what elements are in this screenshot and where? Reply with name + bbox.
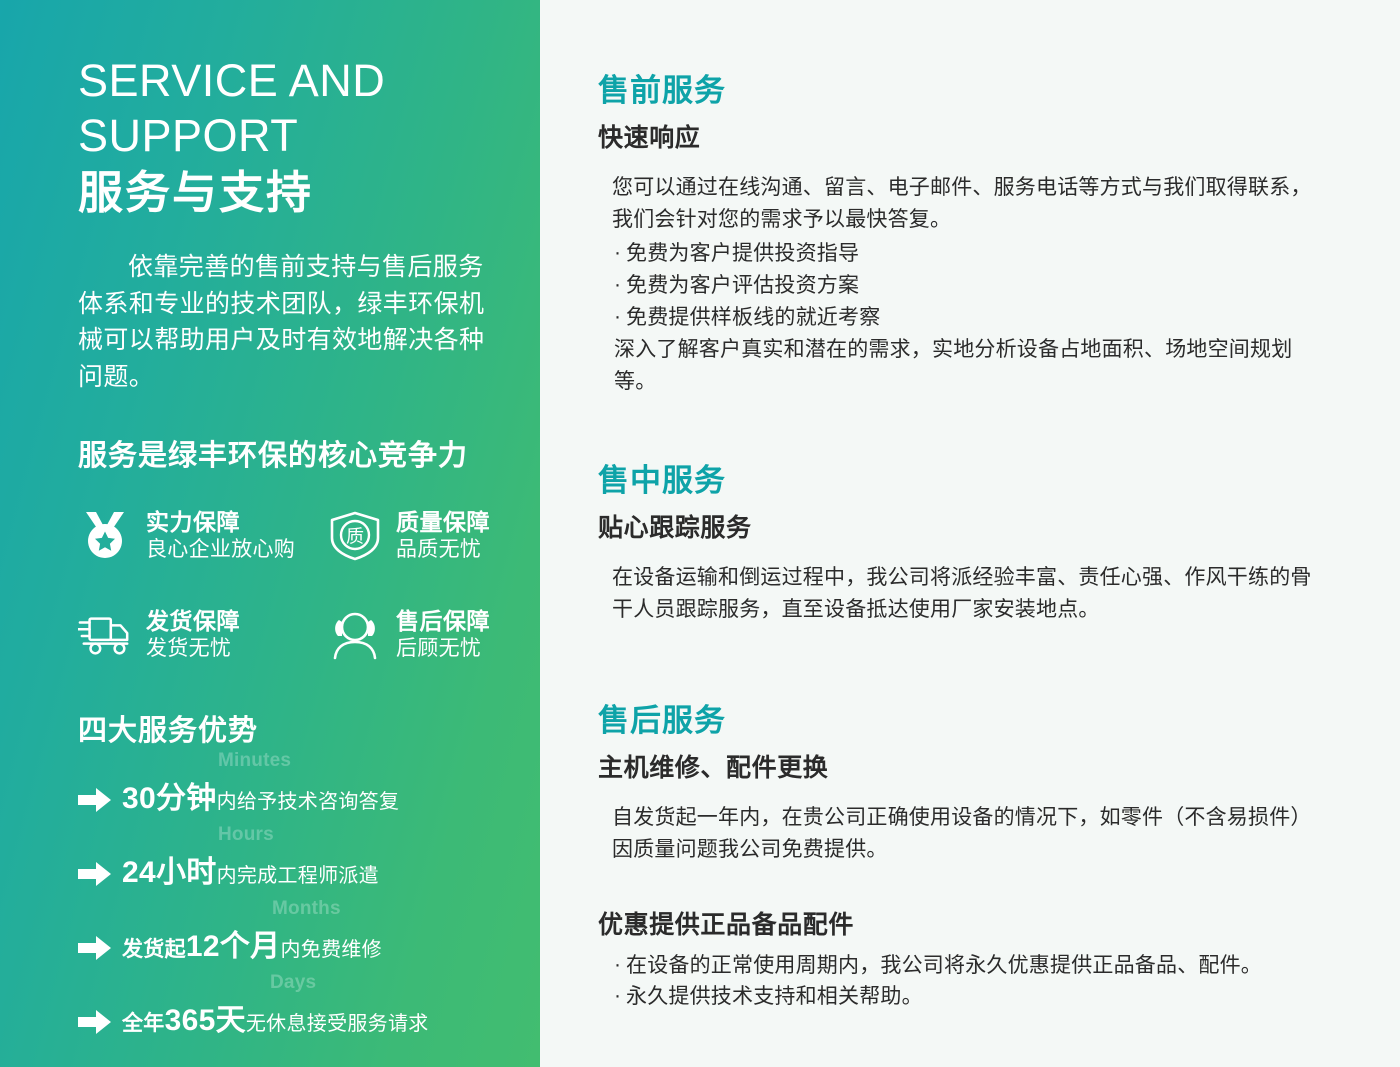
advantage-suffix: 无休息接受服务请求 xyxy=(246,1007,429,1036)
advantage-body: Hours 24小时 内完成工程师派遣 xyxy=(122,847,379,891)
core-competence-heading: 服务是绿丰环保的核心竞争力 xyxy=(78,432,500,474)
feature-sub: 良心企业放心购 xyxy=(146,538,295,561)
shield-quality-icon: 质 xyxy=(328,510,382,562)
feature-text: 发货保障 发货无忧 xyxy=(146,607,240,662)
intro-paragraph: 依靠完善的售前支持与售后服务体系和专业的技术团队，绿丰环保机械可以帮助用户及时有… xyxy=(78,249,508,396)
section-paragraph: 自发货起一年内，在贵公司正确使用设备的情况下，如零件（不含易损件）因质量问题我公… xyxy=(598,802,1320,866)
advantage-body: Days 全年 365天 无休息接受服务请求 xyxy=(122,995,429,1039)
advantage-prefix: 发货起 xyxy=(122,933,186,963)
section-tail-text: 深入了解客户真实和潜在的需求，实地分析设备占地面积、场地空间规划等。 xyxy=(598,334,1320,398)
section-bullets: 免费为客户提供投资指导 免费为客户评估投资方案 免费提供样板线的就近考察 xyxy=(598,238,1320,334)
advantage-item: Months 发货起 12个月 内免费维修 xyxy=(78,913,500,965)
list-item: 在设备的正常使用周期内，我公司将永久优惠提供正品备品、配件。 xyxy=(614,950,1320,982)
service-support-page: SERVICE AND SUPPORT 服务与支持 依靠完善的售前支持与售后服务… xyxy=(0,0,1400,1067)
advantage-body: Minutes 30分钟 内给予技术咨询答复 xyxy=(122,773,399,817)
section-title: 售中服务 xyxy=(598,462,1320,499)
right-content-panel: 售前服务 快速响应 您可以通过在线沟通、留言、电子邮件、服务电话等方式与我们取得… xyxy=(540,0,1400,1067)
section-aftersales: 售后服务 主机维修、配件更换 自发货起一年内，在贵公司正确使用设备的情况下，如零… xyxy=(598,702,1320,1013)
section-spacer xyxy=(598,626,1320,702)
arrow-right-icon xyxy=(78,861,112,887)
advantage-suffix: 内给予技术咨询答复 xyxy=(217,785,400,814)
section-title: 售前服务 xyxy=(598,72,1320,109)
section-paragraph: 您可以通过在线沟通、留言、电子邮件、服务电话等方式与我们取得联系，我们会针对您的… xyxy=(598,172,1320,236)
truck-icon xyxy=(78,609,132,661)
list-item: 免费为客户提供投资指导 xyxy=(614,238,1320,270)
advantage-suffix: 内完成工程师派遣 xyxy=(217,859,379,888)
feature-sub: 后顾无忧 xyxy=(396,637,481,660)
arrow-right-icon xyxy=(78,1009,112,1035)
feature-text: 质量保障 品质无忧 xyxy=(396,508,490,563)
feature-title: 实力保障 xyxy=(146,509,240,535)
advantage-en-watermark: Hours xyxy=(218,824,274,846)
section-spacer xyxy=(598,866,1320,888)
feature-item-aftersales: 售后保障 后顾无忧 xyxy=(328,607,526,662)
section-bullets-2: 在设备的正常使用周期内，我公司将永久优惠提供正品备品、配件。 永久提供技术支持和… xyxy=(598,950,1320,1014)
feature-title: 售后保障 xyxy=(396,608,490,634)
advantage-en-watermark: Months xyxy=(272,898,341,920)
list-item: 免费为客户评估投资方案 xyxy=(614,270,1320,302)
arrow-right-icon xyxy=(78,787,112,813)
section-subtitle-2: 优惠提供正品备品配件 xyxy=(598,910,1320,941)
medal-icon xyxy=(78,510,132,562)
section-subtitle: 主机维修、配件更换 xyxy=(598,753,1320,784)
advantage-body: Months 发货起 12个月 内免费维修 xyxy=(122,921,382,965)
feature-title: 发货保障 xyxy=(146,608,240,634)
advantage-number: 30分钟 xyxy=(122,773,217,817)
feature-text: 实力保障 良心企业放心购 xyxy=(146,508,295,563)
feature-title: 质量保障 xyxy=(396,509,490,535)
advantages-list: Minutes 30分钟 内给予技术咨询答复 Hours 24小时 内完成工程师… xyxy=(78,765,500,1039)
feature-item-strength: 实力保障 良心企业放心购 xyxy=(78,508,328,563)
svg-text:质: 质 xyxy=(346,526,364,546)
advantage-prefix: 全年 xyxy=(122,1007,165,1037)
advantage-number: 365天 xyxy=(165,995,246,1039)
headset-person-icon xyxy=(328,609,382,661)
left-gradient-panel: SERVICE AND SUPPORT 服务与支持 依靠完善的售前支持与售后服务… xyxy=(0,0,540,1067)
section-paragraph: 在设备运输和倒运过程中，我公司将派经验丰富、责任心强、作风干练的骨干人员跟踪服务… xyxy=(598,562,1320,626)
section-subtitle: 快速响应 xyxy=(598,123,1320,154)
section-presales: 售前服务 快速响应 您可以通过在线沟通、留言、电子邮件、服务电话等方式与我们取得… xyxy=(598,72,1320,398)
advantage-en-watermark: Minutes xyxy=(218,750,291,772)
advantage-item: Days 全年 365天 无休息接受服务请求 xyxy=(78,987,500,1039)
feature-text: 售后保障 后顾无忧 xyxy=(396,607,490,662)
feature-grid: 实力保障 良心企业放心购 质 质量保障 品质无忧 xyxy=(78,508,526,663)
advantage-suffix: 内免费维修 xyxy=(280,933,382,962)
list-item: 免费提供样板线的就近考察 xyxy=(614,302,1320,334)
advantages-heading: 四大服务优势 xyxy=(78,707,500,749)
section-spacer xyxy=(598,398,1320,462)
feature-item-quality: 质 质量保障 品质无忧 xyxy=(328,508,526,563)
feature-sub: 发货无忧 xyxy=(146,637,231,660)
section-duringsales: 售中服务 贴心跟踪服务 在设备运输和倒运过程中，我公司将派经验丰富、责任心强、作… xyxy=(598,462,1320,626)
feature-sub: 品质无忧 xyxy=(396,538,481,561)
advantage-number: 24小时 xyxy=(122,847,217,891)
advantage-number: 12个月 xyxy=(186,921,281,965)
list-item: 永久提供技术支持和相关帮助。 xyxy=(614,981,1320,1013)
advantage-en-watermark: Days xyxy=(270,972,316,994)
section-title: 售后服务 xyxy=(598,702,1320,739)
advantage-item: Minutes 30分钟 内给予技术咨询答复 xyxy=(78,765,500,817)
section-subtitle: 贴心跟踪服务 xyxy=(598,513,1320,544)
advantage-item: Hours 24小时 内完成工程师派遣 xyxy=(78,839,500,891)
arrow-right-icon xyxy=(78,935,112,961)
english-title: SERVICE AND SUPPORT xyxy=(78,54,500,164)
chinese-title: 服务与支持 xyxy=(78,166,500,219)
feature-item-shipping: 发货保障 发货无忧 xyxy=(78,607,328,662)
